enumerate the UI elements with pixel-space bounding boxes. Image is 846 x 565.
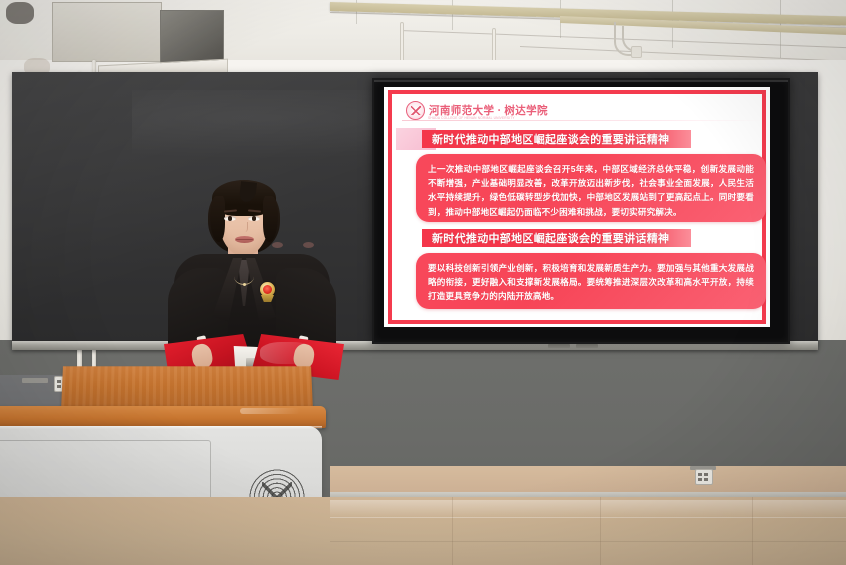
power-outlet[interactable]	[695, 469, 713, 485]
wall-lower-band	[330, 466, 846, 494]
slide-canvas: 河南师范大学 · 树达学院 SHUDA COLLEGE OF HENAN NOR…	[384, 87, 770, 327]
slide-body-text-2: 要以科技创新引领产业创新，积极培育和发展新质生产力。要加强与其他重大发展战略的衔…	[428, 261, 754, 304]
mouth	[235, 236, 254, 243]
slide-heading-1: 新时代推动中部地区崛起座谈会的重要讲话精神	[422, 130, 691, 148]
slide-heading-2: 新时代推动中部地区崛起座谈会的重要讲话精神	[422, 229, 691, 247]
ceiling-opening	[6, 2, 34, 24]
chalk-tray-clip	[576, 344, 598, 348]
slide-content-area: 河南师范大学 · 树达学院 SHUDA COLLEGE OF HENAN NOR…	[392, 94, 762, 320]
slide-text-block-2: 要以科技创新引领产业创新，积极培育和发展新质生产力。要加强与其他重大发展战略的衔…	[416, 253, 766, 309]
ceiling-conduit	[492, 28, 496, 64]
slide-text-block-1: 上一次推动中部地区崛起座谈会召开5年来，中部区域经济总体平稳，创新发展动能不断增…	[416, 154, 766, 222]
hair-side-left	[210, 196, 225, 242]
party-emblem-badge-icon	[260, 282, 275, 297]
eye-left	[224, 216, 236, 221]
necklace-pendant	[243, 283, 246, 286]
wall-equipment-panel	[52, 2, 162, 62]
floor	[0, 497, 846, 565]
cheek	[272, 242, 283, 248]
chalk-tray-clip	[548, 344, 570, 348]
lectern-body-edge	[0, 426, 322, 429]
lectern-back-panel	[61, 366, 313, 410]
ceiling-junction-box	[631, 46, 642, 58]
nose	[241, 222, 248, 232]
presentation-screen[interactable]: 河南师范大学 · 树达学院 SHUDA COLLEGE OF HENAN NOR…	[372, 78, 790, 344]
lectern-top-highlight	[240, 408, 300, 414]
screen-bezel-highlight	[374, 80, 788, 82]
university-seal-icon	[406, 101, 425, 120]
presenter	[168, 176, 336, 376]
cheek	[303, 242, 314, 248]
slide-body-text-1: 上一次推动中部地区崛起座谈会召开5年来，中部区域经济总体平稳，创新发展动能不断增…	[428, 162, 754, 219]
eye-right	[248, 216, 260, 221]
logo-divider	[402, 120, 762, 121]
classroom-photo-scene: 河南师范大学 · 树达学院 SHUDA COLLEGE OF HENAN NOR…	[0, 0, 846, 565]
